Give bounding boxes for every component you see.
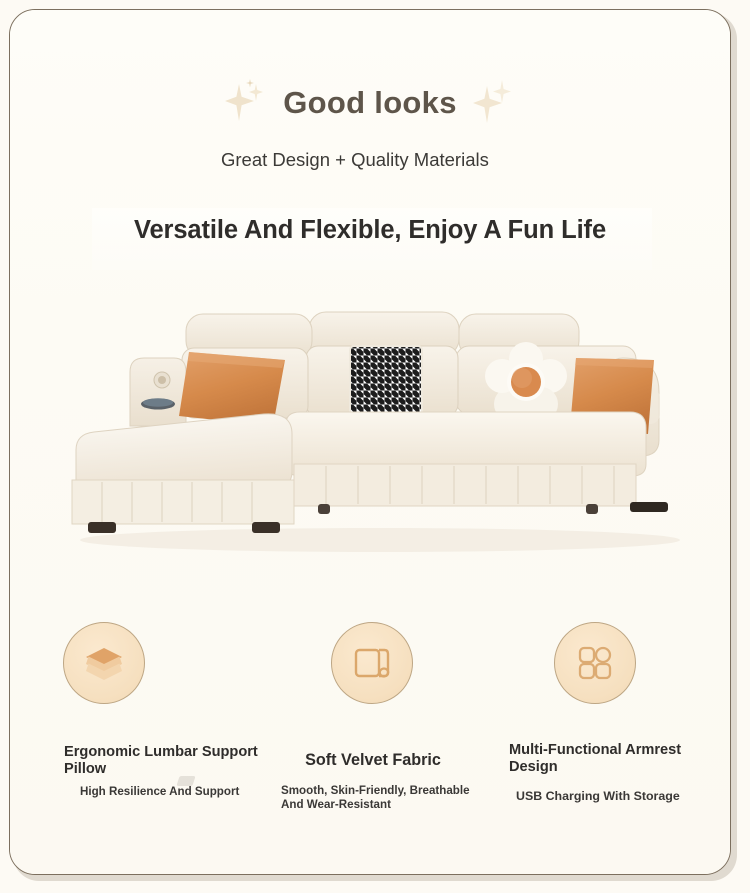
header-subtitle: Great Design + Quality Materials (221, 148, 641, 172)
page-content: Good looks Great Design + Quality Materi… (10, 10, 730, 874)
eyebrow-title: Good looks (283, 85, 457, 121)
feature-title: Soft Velvet Fabric (253, 752, 493, 769)
feature-item: Multi-Functional Armrest Design USB Char… (480, 622, 720, 704)
eyebrow-row: Good looks (10, 78, 730, 128)
product-infographic-page: Good looks Great Design + Quality Materi… (0, 0, 750, 893)
feature-title: Ergonomic Lumbar Support Pillow (64, 744, 269, 778)
page-headline: Versatile And Flexible, Enjoy A Fun Life (10, 216, 730, 245)
feature-subtitle: Smooth, Skin-Friendly, Breathable And We… (281, 784, 493, 812)
sofa-leg (252, 522, 280, 533)
feature-subtitle: USB Charging With Storage (516, 789, 730, 803)
feature-title: Multi-Functional Armrest Design (509, 742, 709, 776)
feature-list: Ergonomic Lumbar Support Pillow High Res… (10, 622, 730, 837)
feature-subtitle: High Resilience And Support (80, 785, 255, 799)
sofa-leg (88, 522, 116, 533)
layers-icon (63, 622, 145, 704)
fabric-roll-icon (331, 622, 413, 704)
sofa-leg (586, 504, 598, 514)
product-image (10, 296, 730, 594)
feature-item: Ergonomic Lumbar Support Pillow High Res… (22, 622, 262, 704)
sparkle-icon (471, 78, 517, 128)
sparkle-icon (223, 78, 269, 128)
sofa-leg (318, 504, 330, 514)
feature-item: Soft Velvet Fabric Smooth, Skin-Friendly… (253, 622, 493, 704)
background-artifact (176, 776, 195, 786)
sofa-leg (630, 502, 668, 512)
grid-modules-icon (554, 622, 636, 704)
